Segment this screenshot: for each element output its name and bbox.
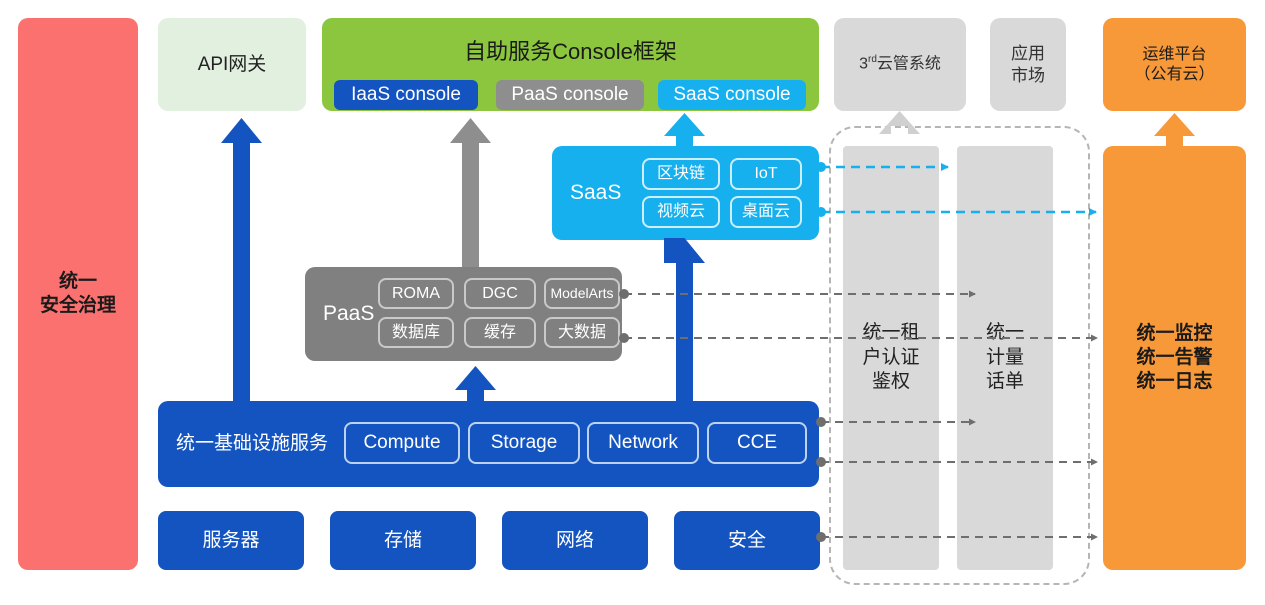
infra-chip-cce-label: CCE: [737, 431, 777, 455]
saas-chip-video-cloud-label: 视频云: [657, 202, 705, 222]
governance-line2: 安全治理: [40, 294, 116, 318]
paas-chip-bigdata[interactable]: 大数据: [544, 317, 620, 348]
saas-console-pill[interactable]: SaaS console: [658, 80, 806, 110]
infra-chip-network-label: Network: [608, 431, 678, 455]
arrow-infra-to-saas: [664, 238, 705, 401]
resource-server-label: 服务器: [202, 529, 259, 553]
ops-platform-line2: （公有云）: [1134, 65, 1214, 85]
app-market-line1: 应用: [1011, 43, 1045, 64]
arrow-infra-to-paas: [455, 366, 496, 401]
arrow-infra-to-api-gateway: [221, 118, 262, 401]
arrow-paas-to-console: [450, 118, 491, 267]
saas-layer-box: SaaS 区块链 IoT 视频云 桌面云: [552, 146, 819, 240]
infra-chip-compute[interactable]: Compute: [344, 422, 460, 464]
paas-chip-dgc[interactable]: DGC: [464, 278, 536, 309]
metering-line3: 话单: [986, 370, 1024, 395]
infra-chip-cce[interactable]: CCE: [707, 422, 807, 464]
app-market-line2: 市场: [1011, 65, 1045, 86]
saas-chip-iot-label: IoT: [754, 164, 777, 184]
api-gateway-box: API网关: [158, 18, 306, 111]
ops-panel-line3: 统一日志: [1136, 370, 1212, 394]
iaas-console-label: IaaS console: [351, 83, 461, 107]
metering-line2: 计量: [986, 346, 1024, 371]
paas-console-label: PaaS console: [511, 83, 628, 107]
infra-chip-network[interactable]: Network: [587, 422, 699, 464]
governance-line1: 统一: [40, 270, 116, 294]
app-market-box: 应用 市场: [990, 18, 1066, 111]
shared-service-auth-column: 统一租 户认证 鉴权: [843, 146, 939, 570]
paas-chip-roma-label: ROMA: [392, 284, 440, 304]
paas-layer-box: PaaS ROMA DGC ModelArts 数据库 缓存 大数据: [305, 267, 622, 361]
ops-panel-line1: 统一监控: [1136, 322, 1212, 346]
auth-line3: 鉴权: [862, 370, 919, 395]
infra-chip-compute-label: Compute: [363, 431, 440, 455]
paas-chip-database[interactable]: 数据库: [378, 317, 454, 348]
resource-box-storage: 存储: [330, 511, 476, 570]
resource-network-label: 网络: [556, 529, 594, 553]
paas-chip-cache[interactable]: 缓存: [464, 317, 536, 348]
auth-line1: 统一租: [862, 321, 919, 346]
saas-chip-desktop-cloud[interactable]: 桌面云: [730, 196, 802, 228]
paas-console-pill[interactable]: PaaS console: [496, 80, 644, 110]
third-party-label: 3rd云管系统: [859, 54, 941, 74]
architecture-diagram: 统一 安全治理 API网关 自助服务Console框架 IaaS console…: [0, 0, 1265, 605]
ops-monitoring-panel: 统一监控 统一告警 统一日志: [1103, 146, 1246, 570]
console-framework-title: 自助服务Console框架: [322, 38, 819, 66]
auth-line2: 户认证: [862, 346, 919, 371]
resource-security-label: 安全: [728, 529, 766, 553]
infrastructure-label: 统一基础设施服务: [176, 432, 328, 456]
infrastructure-layer-box: 统一基础设施服务 Compute Storage Network CCE: [158, 401, 819, 487]
arrow-saas-to-saas-console: [664, 113, 705, 146]
saas-chip-blockchain-label: 区块链: [657, 164, 705, 184]
saas-chip-iot[interactable]: IoT: [730, 158, 802, 190]
arrow-ops-panel-to-ops-platform: [1154, 113, 1195, 146]
console-framework-box: 自助服务Console框架 IaaS console PaaS console …: [322, 18, 819, 111]
resource-box-server: 服务器: [158, 511, 304, 570]
saas-chip-blockchain[interactable]: 区块链: [642, 158, 720, 190]
saas-chip-desktop-cloud-label: 桌面云: [742, 202, 790, 222]
infra-chip-storage-label: Storage: [491, 431, 558, 455]
resource-storage-label: 存储: [384, 529, 422, 553]
iaas-console-pill[interactable]: IaaS console: [334, 80, 478, 110]
resource-box-network: 网络: [502, 511, 648, 570]
ops-platform-line1: 运维平台: [1134, 45, 1214, 65]
paas-chip-database-label: 数据库: [392, 323, 440, 343]
paas-chip-modelarts[interactable]: ModelArts: [544, 278, 620, 309]
third-party-cloud-mgmt-box: 3rd云管系统: [834, 18, 966, 111]
paas-chip-bigdata-label: 大数据: [558, 323, 606, 343]
api-gateway-label: API网关: [198, 53, 267, 77]
paas-chip-cache-label: 缓存: [484, 323, 516, 343]
infra-chip-storage[interactable]: Storage: [468, 422, 580, 464]
paas-chip-roma[interactable]: ROMA: [378, 278, 454, 309]
metering-line1: 统一: [986, 321, 1024, 346]
saas-console-label: SaaS console: [673, 83, 790, 107]
ops-panel-line2: 统一告警: [1136, 346, 1212, 370]
paas-chip-modelarts-label: ModelArts: [550, 285, 613, 303]
paas-chip-dgc-label: DGC: [482, 284, 518, 304]
ops-platform-box: 运维平台 （公有云）: [1103, 18, 1246, 111]
shared-service-metering-column: 统一 计量 话单: [957, 146, 1053, 570]
resource-box-security: 安全: [674, 511, 820, 570]
saas-layer-label: SaaS: [570, 180, 621, 206]
governance-panel: 统一 安全治理: [18, 18, 138, 570]
paas-layer-label: PaaS: [323, 301, 374, 327]
saas-chip-video-cloud[interactable]: 视频云: [642, 196, 720, 228]
